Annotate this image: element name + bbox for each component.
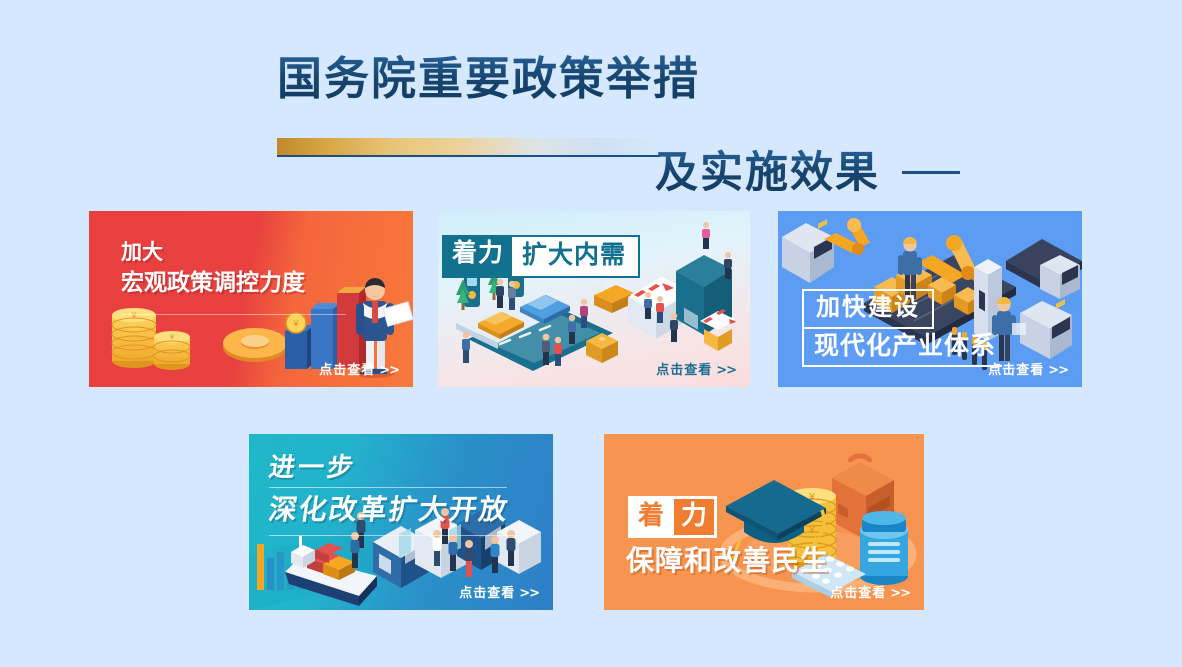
svg-text:¥: ¥ <box>131 311 137 320</box>
page-subtitle: 及实施效果 <box>655 138 960 200</box>
title-dash-line <box>902 171 960 174</box>
title-gold-accent-bar <box>277 138 657 155</box>
card1-headline-line1: 加大 <box>121 239 305 267</box>
card1-headline-line2: 宏观政策调控力度 <box>121 267 305 297</box>
card1-cta-link[interactable]: 点击查看>> <box>319 359 399 378</box>
policy-card-modern-industrial-system[interactable]: 加快建设 现代化产业体系 点击查看>> <box>778 211 1082 387</box>
card3-headline-line1: 加快建设 <box>802 289 934 329</box>
policy-card-expand-domestic-demand[interactable]: 着力 扩大内需 点击查看>> <box>438 211 750 387</box>
card4-headline-line1: 进一步 <box>267 452 358 483</box>
page-title-line2: 及实施效果 <box>655 138 880 200</box>
card4-rule-bottom <box>269 535 519 536</box>
card5-cta-link[interactable]: 点击查看>> <box>830 582 910 601</box>
title-rule-line <box>277 155 660 157</box>
card4-cta-label: 点击查看 <box>459 585 515 600</box>
card5-headline-line2: 保障和改善民生 <box>626 544 829 578</box>
card3-chevron-icon: >> <box>1048 363 1068 378</box>
card1-headline: 加大 宏观政策调控力度 <box>121 239 305 297</box>
card5-cta-label: 点击查看 <box>830 585 886 600</box>
card2-cta-label: 点击查看 <box>656 362 712 377</box>
card4-rule-top <box>269 487 507 488</box>
policy-card-deepen-reform-open-up[interactable]: 进一步 深化改革扩大开放 点击查看>> <box>249 434 553 610</box>
page-title: 国务院重要政策举措 <box>277 42 700 104</box>
card3-cta-label: 点击查看 <box>988 362 1044 377</box>
card5-headline-badge: 着 力 <box>628 496 717 538</box>
card4-headline-line2: 深化改革扩大开放 <box>267 492 512 527</box>
card4-chevron-icon: >> <box>519 586 539 601</box>
card2-cta-link[interactable]: 点击查看>> <box>656 359 736 378</box>
card4-cta-link[interactable]: 点击查看>> <box>459 582 539 601</box>
card2-chevron-icon: >> <box>716 363 736 378</box>
card5-chevron-icon: >> <box>890 586 910 601</box>
card3-headline-line2: 现代化产业体系 <box>802 329 1002 367</box>
page-title-line1: 国务院重要政策举措 <box>277 42 700 107</box>
svg-text:¥: ¥ <box>292 319 299 329</box>
policy-card-improve-peoples-livelihood[interactable]: ¥ ¥ <box>604 434 924 610</box>
card2-headline-line2: 扩大内需 <box>512 235 640 278</box>
svg-text:¥: ¥ <box>170 334 174 341</box>
page-header: 国务院重要政策举措 及实施效果 <box>0 42 1182 162</box>
card2-headline: 着力 扩大内需 <box>442 235 640 278</box>
card2-headline-line1: 着力 <box>442 235 512 278</box>
svg-text:¥: ¥ <box>808 525 815 536</box>
card5-headline-char2: 力 <box>671 499 714 535</box>
card1-headline-rule <box>121 314 346 315</box>
card1-cta-label: 点击查看 <box>319 362 375 377</box>
card5-headline-char1: 着 <box>631 499 671 535</box>
card1-chevron-icon: >> <box>379 363 399 378</box>
policy-card-macro-regulation[interactable]: ¥ ¥ <box>89 211 413 387</box>
card3-cta-link[interactable]: 点击查看>> <box>988 359 1068 378</box>
